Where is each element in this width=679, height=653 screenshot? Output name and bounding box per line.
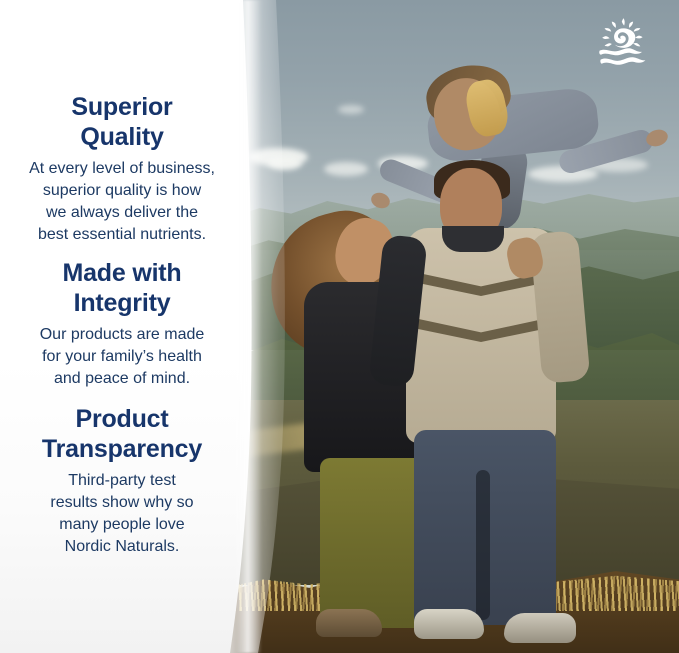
value-block-product-transparency: Product Transparency Third-party test re… [0,404,244,558]
value-body: Third-party test results show why so man… [17,470,227,558]
value-heading: Product Transparency [0,404,244,464]
value-body-line: Nordic Naturals. [17,536,227,558]
man-shoe [414,609,484,639]
value-heading-line: Transparency [42,435,202,463]
value-body-line: and peace of mind. [17,368,227,390]
sun-waves-logo-icon [595,18,651,70]
value-heading: Made with Integrity [0,258,244,318]
value-body-line: superior quality is how [17,180,227,202]
woman-pants [320,458,424,628]
promo-banner: Superior Quality At every level of busin… [0,0,679,653]
value-body-line: Our products are made [17,324,227,346]
value-heading-line: Superior [71,93,172,121]
value-heading-line: Product [75,405,168,433]
value-body-line: for your family’s health [17,346,227,368]
value-body-line: results show why so [17,492,227,514]
family-figures [228,0,679,653]
value-body-line: best essential nutrients. [17,224,227,246]
value-body-line: we always deliver the [17,202,227,224]
value-heading-line: Made with [62,259,181,287]
value-body-line: Third-party test [17,470,227,492]
value-heading-line: Integrity [74,289,171,317]
panel-content: Superior Quality At every level of busin… [0,0,244,653]
man-jeans-shadow [476,470,490,620]
family-lifestyle-photo [228,0,679,653]
man-shoe [504,613,576,643]
value-block-superior-quality: Superior Quality At every level of busin… [0,92,244,246]
value-body: At every level of business, superior qua… [17,158,227,246]
value-heading-line: Quality [80,123,163,151]
value-block-made-with-integrity: Made with Integrity Our products are mad… [0,258,244,390]
value-body: Our products are made for your family’s … [17,324,227,390]
man-collar [442,226,504,252]
value-heading: Superior Quality [0,92,244,152]
value-body-line: many people love [17,514,227,536]
value-body-line: At every level of business, [17,158,227,180]
child-left-hand [369,190,392,211]
woman-shoe [316,609,382,637]
